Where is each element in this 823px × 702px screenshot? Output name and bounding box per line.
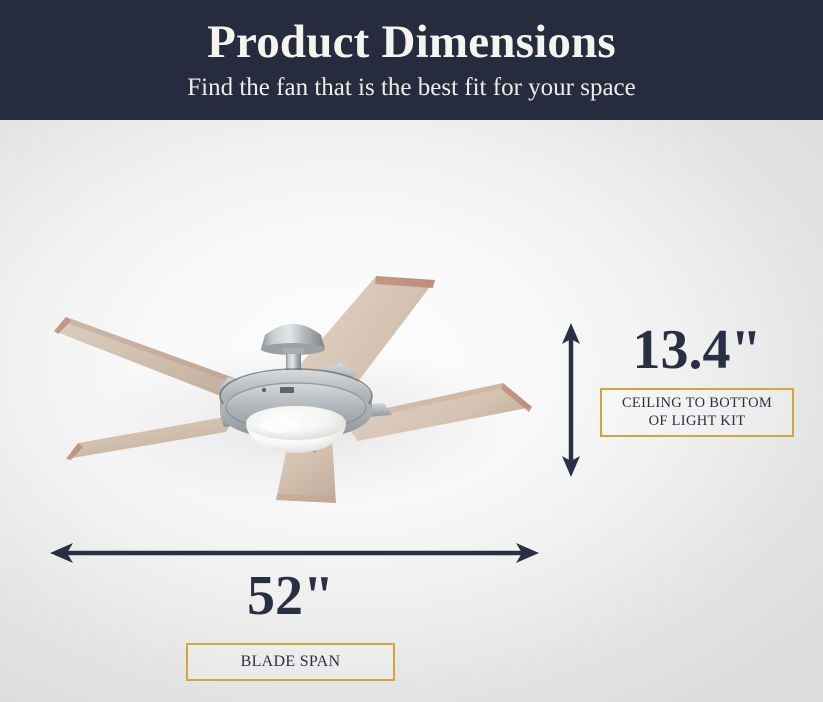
blade-span-value: 52" <box>186 568 395 624</box>
height-callout-line1: CEILING TO BOTTOM <box>622 395 772 411</box>
height-callout-line2: OF LIGHT KIT <box>649 413 746 429</box>
height-value: 13.4" <box>600 322 794 378</box>
page-title: Product Dimensions <box>207 18 616 67</box>
ceiling-fan-image <box>40 255 560 525</box>
height-callout-box: CEILING TO BOTTOM OF LIGHT KIT <box>600 388 794 437</box>
product-dimensions-infographic: Product Dimensions Find the fan that is … <box>0 0 823 702</box>
ceiling-fan-illustration <box>40 255 560 525</box>
height-callout-label: CEILING TO BOTTOM OF LIGHT KIT <box>622 395 772 429</box>
blade-span-callout-box: BLADE SPAN <box>186 643 395 681</box>
height-dimension-arrow <box>552 320 592 480</box>
vertical-double-arrow-icon <box>552 320 592 480</box>
header-banner: Product Dimensions Find the fan that is … <box>0 0 823 120</box>
page-subtitle: Find the fan that is the best fit for yo… <box>187 74 636 102</box>
blade-span-callout-label: BLADE SPAN <box>241 653 341 672</box>
